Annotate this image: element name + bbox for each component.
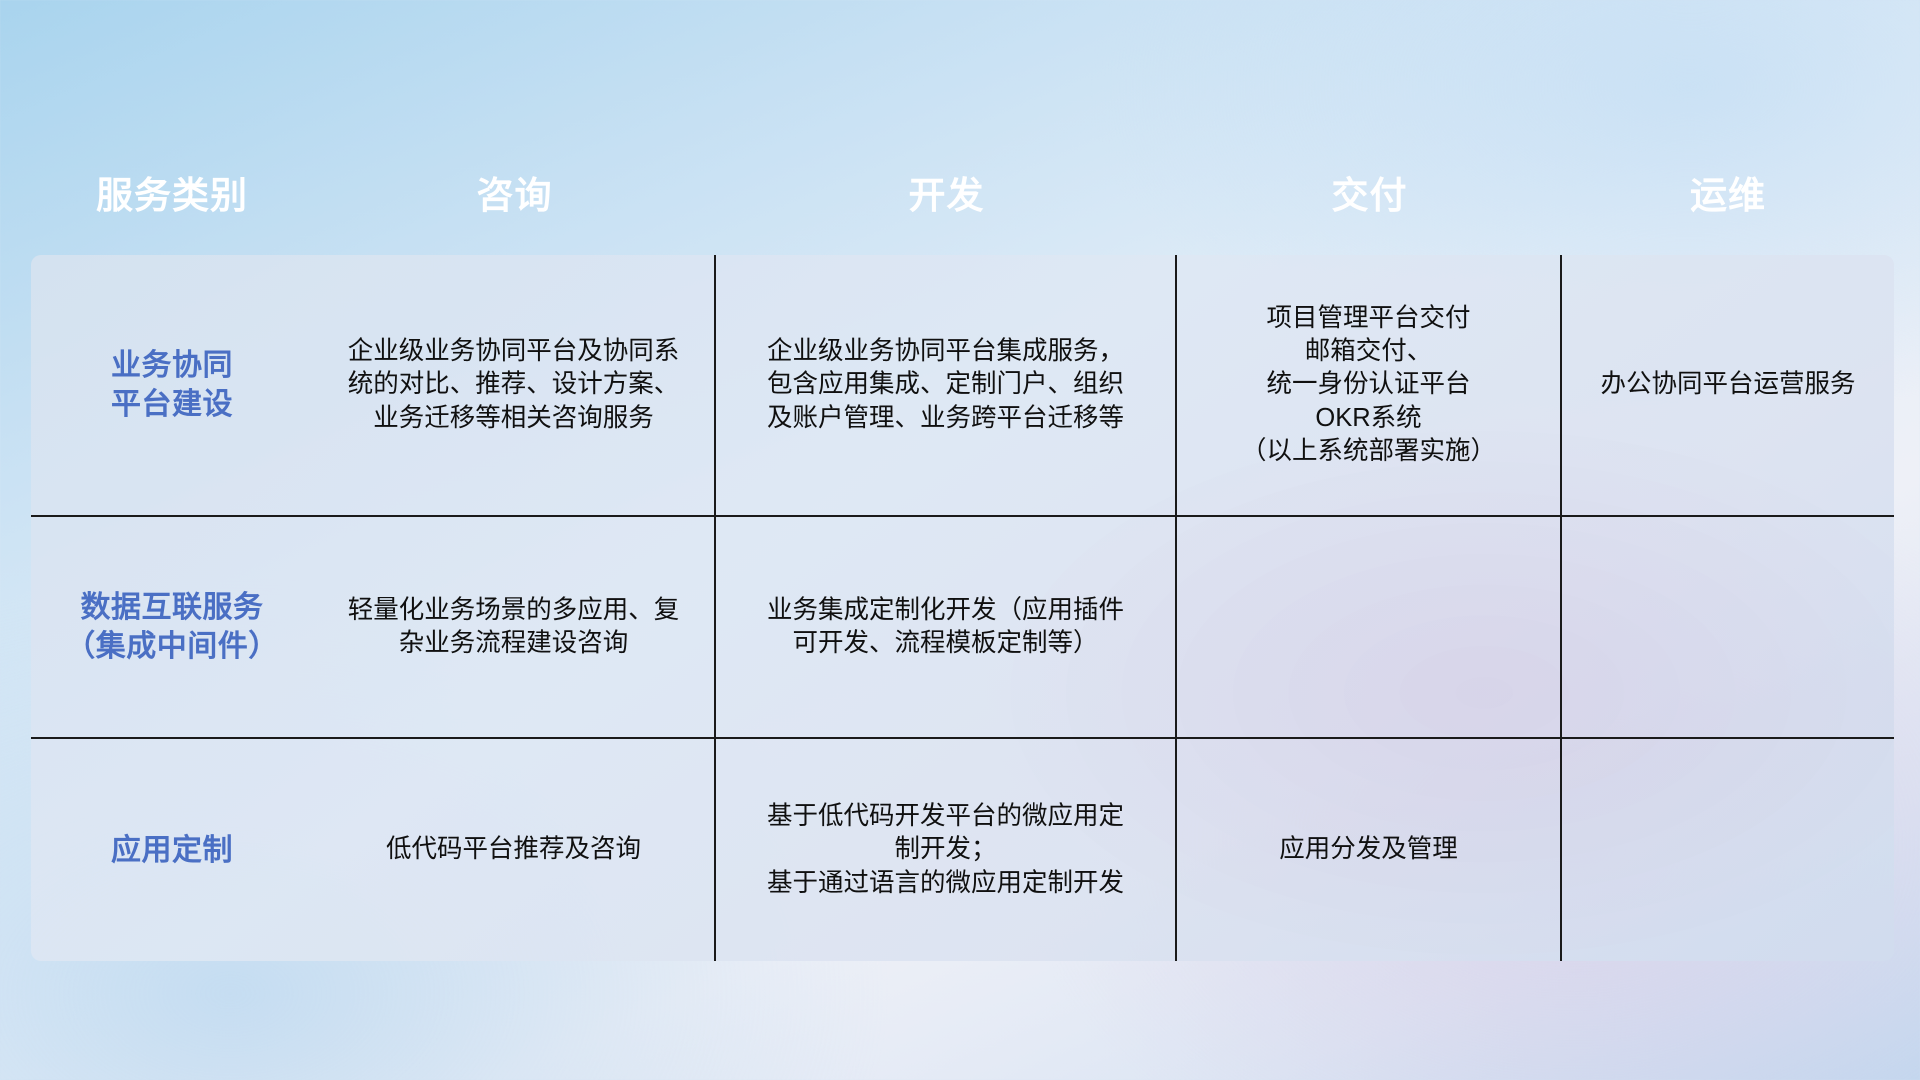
header-cell-operations: 运维	[1562, 177, 1894, 214]
header-cell-service-category: 服务类别	[31, 177, 313, 214]
header-cell-development: 开发	[716, 177, 1177, 214]
cell-development: 基于低代码开发平台的微应用定 制开发； 基于通过语言的微应用定制开发	[716, 739, 1177, 961]
cell-operations	[1562, 517, 1894, 737]
table-row: 数据互联服务 （集成中间件） 轻量化业务场景的多应用、复 杂业务流程建设咨询 业…	[31, 517, 1894, 739]
cell-development: 企业级业务协同平台集成服务， 包含应用集成、定制门户、组织 及账户管理、业务跨平…	[716, 255, 1177, 515]
cell-consulting: 低代码平台推荐及咨询	[313, 739, 716, 961]
cell-delivery: 项目管理平台交付 邮箱交付、 统一身份认证平台 OKR系统 （以上系统部署实施）	[1177, 255, 1562, 515]
row-category-label: 数据互联服务 （集成中间件）	[31, 517, 313, 737]
cell-operations	[1562, 739, 1894, 961]
cell-consulting: 轻量化业务场景的多应用、复 杂业务流程建设咨询	[313, 517, 716, 737]
cell-delivery	[1177, 517, 1562, 737]
header-cell-consulting: 咨询	[313, 177, 716, 214]
header-cell-delivery: 交付	[1177, 177, 1562, 214]
table-grid: 业务协同 平台建设 企业级业务协同平台及协同系 统的对比、推荐、设计方案、 业务…	[31, 255, 1894, 961]
cell-consulting: 企业级业务协同平台及协同系 统的对比、推荐、设计方案、 业务迁移等相关咨询服务	[313, 255, 716, 515]
cell-operations: 办公协同平台运营服务	[1562, 255, 1894, 515]
table-row: 应用定制 低代码平台推荐及咨询 基于低代码开发平台的微应用定 制开发； 基于通过…	[31, 739, 1894, 961]
slide-canvas: 服务类别 咨询 开发 交付 运维 业务协同 平台建设 企业级业务协同平台及协同系…	[0, 0, 1920, 1080]
table-row: 业务协同 平台建设 企业级业务协同平台及协同系 统的对比、推荐、设计方案、 业务…	[31, 255, 1894, 517]
cell-development: 业务集成定制化开发（应用插件 可开发、流程模板定制等）	[716, 517, 1177, 737]
table-header-row: 服务类别 咨询 开发 交付 运维	[31, 131, 1894, 259]
row-category-label: 应用定制	[31, 739, 313, 961]
cell-delivery: 应用分发及管理	[1177, 739, 1562, 961]
service-matrix-table: 服务类别 咨询 开发 交付 运维 业务协同 平台建设 企业级业务协同平台及协同系…	[31, 131, 1920, 961]
row-category-label: 业务协同 平台建设	[31, 255, 313, 515]
